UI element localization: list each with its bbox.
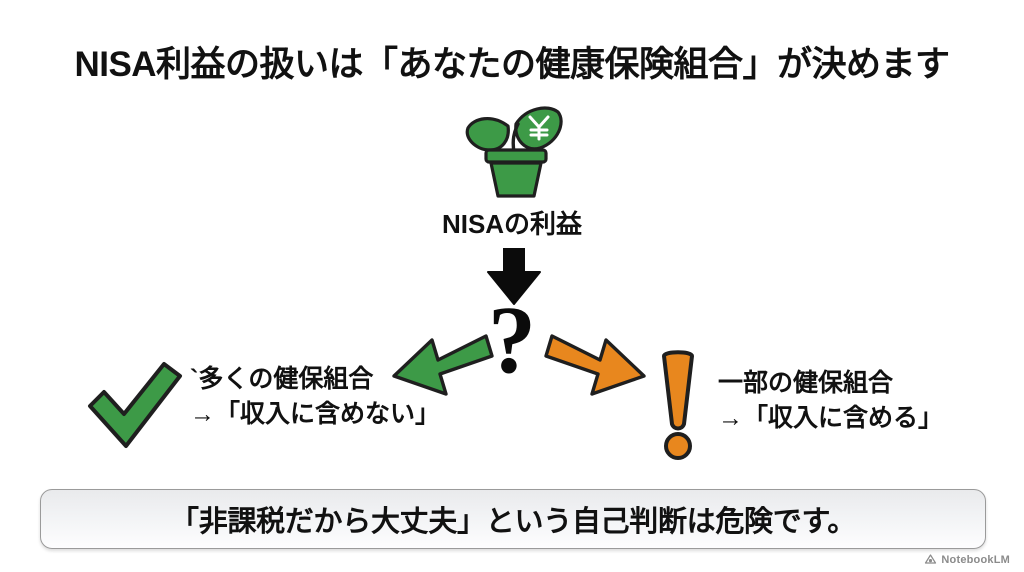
warning-banner-text: 「非課税だから大丈夫」という自己判断は危険です。	[170, 498, 856, 540]
watermark: NotebookLM	[924, 553, 1010, 566]
branch-left-line1: `多くの健保組合	[190, 362, 440, 397]
warning-banner: 「非課税だから大丈夫」という自己判断は危険です。	[40, 489, 986, 549]
exclamation-mark-icon	[648, 348, 708, 460]
source-node-label: NISAの利益	[0, 204, 1024, 241]
arrow-down-right-icon	[542, 330, 646, 404]
check-mark-icon	[82, 352, 186, 456]
branch-right-line1: 一部の健保組合	[718, 366, 968, 401]
potted-plant-with-yen-icon	[446, 98, 586, 202]
page-title: NISA利益の扱いは「あなたの健康保険組合」が決めます	[0, 36, 1024, 87]
branch-right-line2: →「収入に含める」	[718, 401, 968, 436]
notebooklm-logo-icon	[924, 553, 937, 566]
branch-left-line2: →「収入に含めない」	[190, 397, 440, 432]
branch-left-text: `多くの健保組合 →「収入に含めない」	[190, 362, 440, 431]
slide-canvas: NISA利益の扱いは「あなたの健康保険組合」が決めます NISAの利益	[0, 0, 1024, 572]
watermark-label: NotebookLM	[941, 554, 1010, 566]
branch-right-text: 一部の健保組合 →「収入に含める」	[718, 366, 968, 435]
